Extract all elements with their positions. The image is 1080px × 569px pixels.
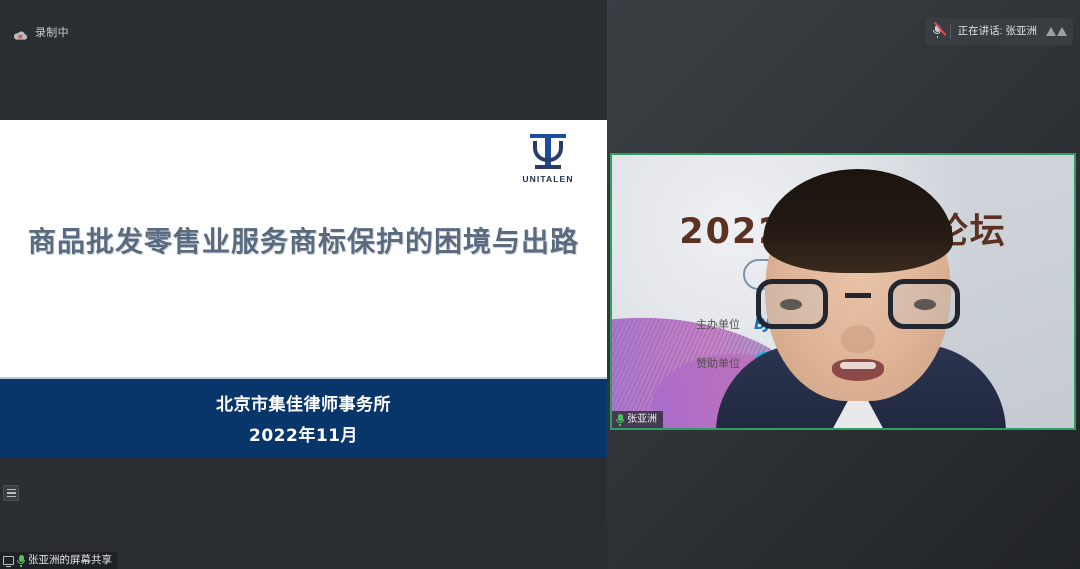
slide-footer-organization: 北京市集佳律师事务所	[0, 390, 607, 415]
participant-video-tile[interactable]: 2022三会商标论坛 百家争鸣 主办单位 BJTA 北京商标协会 Beijing…	[610, 153, 1076, 430]
recording-label: 录制中	[35, 28, 69, 39]
share-footer-label: 张亚洲的屏幕共享	[28, 555, 112, 566]
share-footer-bar: 张亚洲的屏幕共享	[0, 552, 117, 569]
participant-name-badge: 张亚洲	[612, 411, 663, 428]
unitalen-pillar-logo-icon	[528, 129, 568, 173]
unitalen-logo: UNITALEN	[517, 129, 579, 184]
microphone-on-icon	[616, 414, 624, 426]
audio-wave-icon	[1046, 27, 1067, 36]
background-sponsor-label: 赞助单位	[696, 355, 740, 371]
chip-divider	[950, 25, 951, 39]
slide-footer-date: 2022年11月	[0, 421, 607, 446]
participant-name-label: 张亚洲	[627, 414, 657, 425]
participant-region: 正在讲话: 张亚洲 2022三会商标论坛 百家争鸣 主办单位 BJTA	[607, 0, 1080, 569]
participant-webcam-person	[752, 163, 964, 430]
screen-share-icon	[3, 556, 14, 565]
microphone-muted-icon	[933, 24, 943, 39]
unitalen-logo-text: UNITALEN	[517, 174, 579, 184]
meeting-window: 录制中 UNITALEN 商品批发零售业服务商标保护的困境与出路 北京市集佳律师…	[0, 0, 1080, 569]
slide-menu-icon[interactable]	[3, 485, 19, 501]
active-speaker-chip: 正在讲话: 张亚洲	[925, 18, 1073, 45]
slide-footer-band: 北京市集佳律师事务所 2022年11月	[0, 377, 607, 457]
background-host-label: 主办单位	[696, 316, 740, 332]
recording-indicator: 录制中	[13, 25, 69, 41]
shared-screen-region: 录制中 UNITALEN 商品批发零售业服务商标保护的困境与出路 北京市集佳律师…	[0, 0, 607, 569]
presentation-slide: UNITALEN 商品批发零售业服务商标保护的困境与出路 北京市集佳律师事务所 …	[0, 120, 607, 457]
slide-title: 商品批发零售业服务商标保护的困境与出路	[0, 220, 607, 260]
active-speaker-label: 正在讲话: 张亚洲	[958, 26, 1037, 37]
recording-cloud-icon	[13, 28, 28, 39]
microphone-on-icon	[17, 555, 25, 567]
